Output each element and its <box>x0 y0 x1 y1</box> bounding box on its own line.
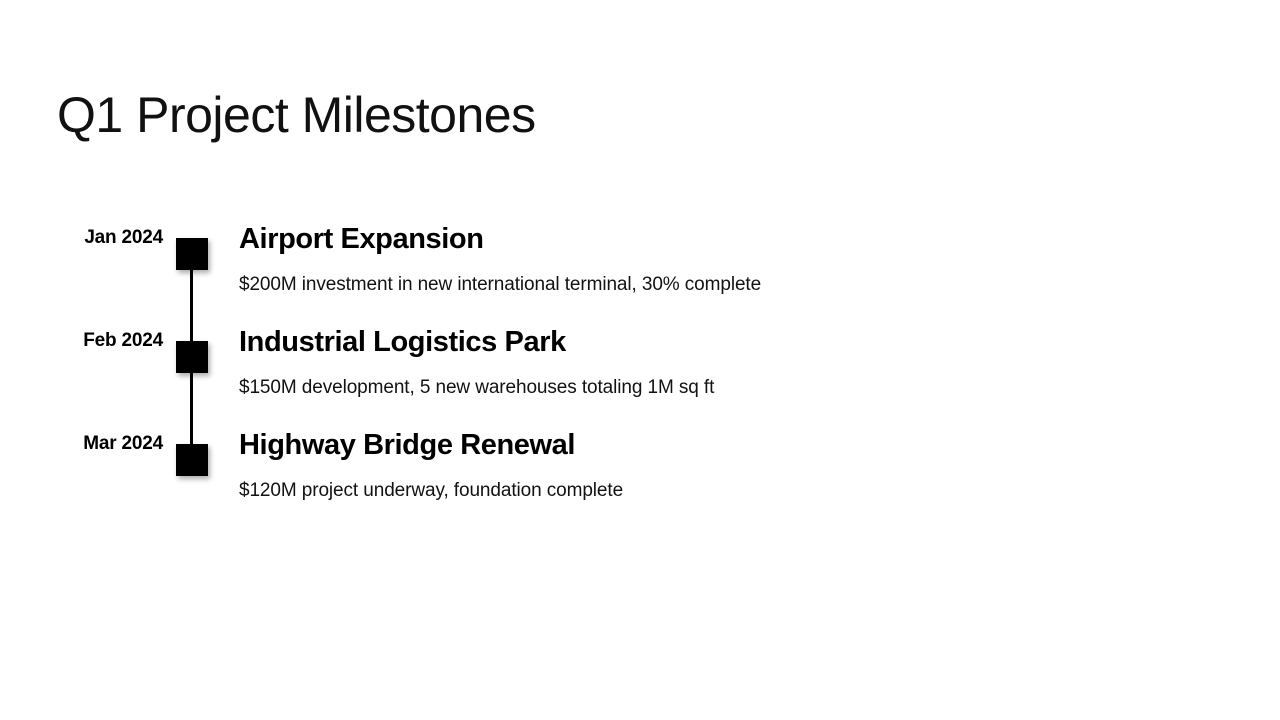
page-title: Q1 Project Milestones <box>57 88 536 143</box>
milestone-description: $120M project underway, foundation compl… <box>239 462 1240 503</box>
timeline-marker-icon <box>176 341 208 373</box>
milestone-date: Feb 2024 <box>0 325 163 357</box>
timeline-milestone: Feb 2024 Industrial Logistics Park $150M… <box>0 325 1280 428</box>
milestone-content: Airport Expansion $200M investment in ne… <box>239 222 1240 297</box>
milestone-description: $200M investment in new international te… <box>239 256 1240 297</box>
milestone-title: Airport Expansion <box>239 222 1240 256</box>
timeline-marker-icon <box>176 444 208 476</box>
timeline-milestone: Jan 2024 Airport Expansion $200M investm… <box>0 222 1280 325</box>
milestone-title: Highway Bridge Renewal <box>239 428 1240 462</box>
timeline-marker-icon <box>176 238 208 270</box>
milestone-content: Highway Bridge Renewal $120M project und… <box>239 428 1240 503</box>
milestone-description: $150M development, 5 new warehouses tota… <box>239 359 1240 400</box>
slide: Q1 Project Milestones Jan 2024 Airport E… <box>0 0 1280 720</box>
timeline-milestone: Mar 2024 Highway Bridge Renewal $120M pr… <box>0 428 1280 531</box>
timeline: Jan 2024 Airport Expansion $200M investm… <box>0 222 1280 531</box>
milestone-content: Industrial Logistics Park $150M developm… <box>239 325 1240 400</box>
milestone-title: Industrial Logistics Park <box>239 325 1240 359</box>
milestone-date: Mar 2024 <box>0 428 163 460</box>
milestone-date: Jan 2024 <box>0 222 163 254</box>
